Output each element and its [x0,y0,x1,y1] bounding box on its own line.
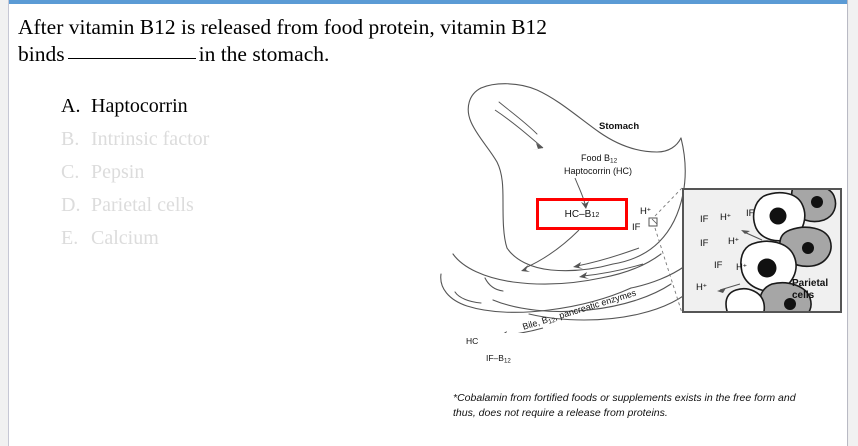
inset-label-if-1: IF [700,214,708,225]
inset-label-h-plus-4: H+ [696,282,707,293]
stomach-diagram: HC–B12 Stomach Food B12 Haptocorrin (HC)… [433,78,843,333]
options-list: A. Haptocorrin B. Intrinsic factor C. Pe… [61,90,361,255]
answer-blank-rule [68,58,196,59]
label-hc-lower: HC [466,336,478,346]
option-row-a[interactable]: A. Haptocorrin [61,90,361,123]
question-text-suffix: in the stomach. [199,42,330,66]
label-food-b12: Food B12 [581,153,617,165]
label-if-b12: IF–B12 [486,353,511,365]
slide-canvas: After vitamin B12 is released from food … [9,0,847,446]
inset-label-h-plus-1: H+ [720,212,731,223]
option-letter-a: A. [61,90,91,123]
inset-label-h-plus-2: H+ [728,236,739,247]
label-h-plus-wall: H+ [640,206,651,217]
question-text-line1: After vitamin B12 is released from food … [18,15,547,39]
label-if-wall: IF [632,222,640,233]
option-row-b[interactable]: B. Intrinsic factor [61,123,361,156]
left-gutter [0,0,8,446]
label-stomach: Stomach [599,121,639,132]
option-letter-d: D. [61,189,91,222]
question-block: After vitamin B12 is released from food … [18,14,443,68]
inset-label-parietal-cells: Parietalcells [792,278,828,302]
footnote-line-2: thus, does not require a release from pr… [453,406,833,421]
inset-label-if-3: IF [700,238,708,249]
footnote: *Cobalamin from fortified foods or suppl… [453,391,833,421]
option-letter-b: B. [61,123,91,156]
option-row-d[interactable]: D. Parietal cells [61,189,361,222]
slide-viewport: After vitamin B12 is released from food … [0,0,858,446]
option-letter-c: C. [61,156,91,189]
question-line-2: bindsin the stomach. [18,41,443,68]
right-edge-rule [847,0,848,446]
parietal-cells-inset: IF H+ IF IF H+ IF H+ H+ Parietalcells [682,188,842,313]
option-text-d: Parietal cells [91,189,194,222]
inset-label-if-2: IF [746,208,754,219]
option-text-a: Haptocorrin [91,90,188,123]
top-accent-bar [9,0,847,4]
option-letter-e: E. [61,222,91,255]
inset-label-if-4: IF [714,260,722,271]
hc-b12-highlight-box: HC–B12 [536,198,628,230]
question-text-prefix: binds [18,42,65,66]
inset-label-h-plus-3: H+ [736,262,747,273]
option-text-e: Calcium [91,222,159,255]
option-text-c: Pepsin [91,156,144,189]
footnote-line-1: *Cobalamin from fortified foods or suppl… [453,391,833,406]
option-row-e[interactable]: E. Calcium [61,222,361,255]
option-text-b: Intrinsic factor [91,123,209,156]
option-row-c[interactable]: C. Pepsin [61,156,361,189]
label-haptocorrin: Haptocorrin (HC) [564,166,632,176]
right-gutter [849,0,858,446]
hc-b12-label: HC–B12 [539,201,625,227]
question-line-1: After vitamin B12 is released from food … [18,14,443,41]
